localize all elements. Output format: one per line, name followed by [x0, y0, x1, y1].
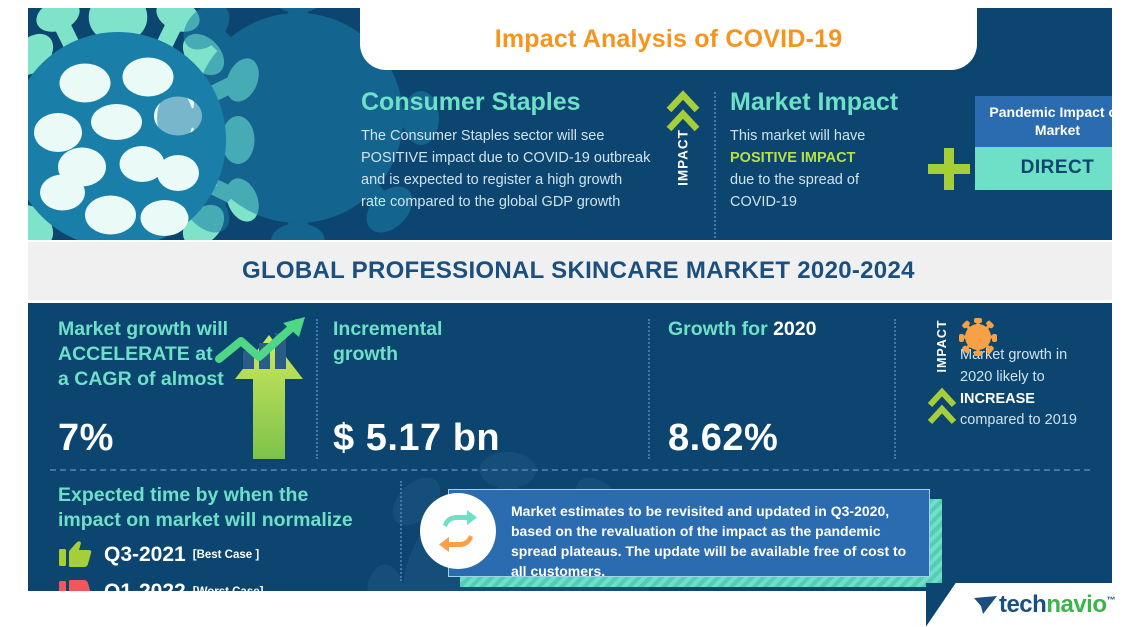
stat-incr-value: $ 5.17 bn — [333, 417, 500, 460]
normalize-best-quarter: Q3-2021 — [104, 543, 186, 567]
refresh-cycle-icon — [433, 506, 483, 556]
note-text: Market estimates to be revisited and upd… — [511, 503, 906, 579]
market-title-band: GLOBAL PROFESSIONAL SKINCARE MARKET 2020… — [28, 242, 1112, 300]
stat-growth-2020: Growth for 2020 8.62% — [668, 317, 898, 342]
stat-cagr-line2: ACCELERATE at — [58, 343, 213, 365]
note-icon-circle — [420, 493, 496, 569]
stat-growth-prefix: Growth for — [668, 318, 773, 340]
stat-incremental-growth: Incremental growth $ 5.17 bn — [333, 317, 633, 367]
infographic-canvas: Impact Analysis of COVID-19 Consumer Sta… — [0, 0, 1140, 627]
market-impact-line3: COVID-19 — [730, 194, 797, 210]
normalize-worst-quarter: Q1-2022 — [104, 580, 186, 591]
page-title-pill: Impact Analysis of COVID-19 — [360, 8, 977, 70]
consumer-staples-body: The Consumer Staples sector will see POS… — [361, 125, 651, 213]
technavio-arrow-icon — [973, 594, 999, 616]
divider-dotted-top — [714, 92, 716, 238]
stat-cagr-value: 7% — [58, 417, 114, 460]
pandemic-impact-value: DIRECT — [975, 147, 1112, 190]
divider-dotted-bottom — [400, 481, 402, 581]
stat-growth-year: 2020 — [773, 318, 816, 340]
normalize-heading-line2: impact on market will normalize — [58, 509, 353, 531]
divider-dotted-2 — [648, 319, 650, 459]
divider-dashed-horizontal — [50, 469, 1090, 471]
stat-incr-line1: Incremental — [333, 318, 442, 340]
thumbs-down-icon — [58, 577, 92, 591]
impact-2020-emphasis: INCREASE — [960, 391, 1035, 407]
stat-cagr-line3: a CAGR of almost — [58, 368, 224, 390]
impact-label-top: IMPACT — [676, 103, 691, 213]
market-impact-line2: due to the spread of — [730, 172, 859, 188]
impact-label-bottom: IMPACT — [935, 303, 949, 392]
stat-incr-line2: growth — [333, 343, 398, 365]
logo-text-tech: tech — [999, 591, 1046, 618]
logo-text-navio: navio — [1046, 591, 1106, 618]
double-chevron-up-icon-2 — [927, 387, 957, 427]
normalize-heading-line1: Expected time by when the — [58, 484, 308, 506]
market-impact-block: Market Impact This market will have POSI… — [730, 88, 955, 213]
bottom-panel: Market growth will ACCELERATE at a CAGR … — [28, 303, 1112, 591]
market-impact-heading: Market Impact — [730, 88, 955, 117]
divider-dotted-1 — [316, 319, 318, 459]
pandemic-impact-heading: Pandemic Impact on Market — [975, 96, 1112, 147]
normalize-row-worst: Q1-2022 [Worst Case] — [58, 577, 388, 591]
consumer-staples-block: Consumer Staples The Consumer Staples se… — [361, 88, 651, 213]
note-box: Market estimates to be revisited and upd… — [448, 489, 930, 577]
stat-growth-value: 8.62% — [668, 417, 778, 460]
normalize-best-case: [Best Case ] — [193, 549, 259, 561]
page-title: Impact Analysis of COVID-19 — [495, 25, 843, 54]
normalize-block: Expected time by when the impact on mark… — [58, 483, 388, 591]
pandemic-impact-box: Pandemic Impact on Market DIRECT — [975, 96, 1112, 190]
market-impact-line1: This market will have — [730, 128, 865, 144]
normalize-worst-case: [Worst Case] — [193, 586, 264, 591]
technavio-logo-banner: technavio™ — [948, 583, 1140, 627]
virus-icon — [958, 317, 998, 357]
divider-dotted-3 — [894, 319, 896, 459]
stat-cagr-line1: Market growth will — [58, 318, 228, 340]
impact-2020-line3: compared to 2019 — [960, 412, 1077, 428]
market-impact-highlight: POSITIVE IMPACT — [730, 150, 855, 166]
market-title: GLOBAL PROFESSIONAL SKINCARE MARKET 2020… — [242, 257, 915, 285]
growth-chart-icon — [213, 315, 313, 375]
impact-indicator-top: IMPACT — [660, 90, 706, 240]
top-panel: Impact Analysis of COVID-19 Consumer Sta… — [28, 8, 1112, 240]
thumbs-up-icon — [58, 540, 92, 570]
banner-corner-cut — [926, 583, 956, 627]
impact-2020-block: IMPACT Market growth in 2020 likely to I… — [918, 317, 1112, 432]
consumer-staples-heading: Consumer Staples — [361, 88, 651, 117]
logo-trademark: ™ — [1107, 595, 1116, 605]
plus-icon — [928, 148, 970, 190]
impact-2020-line2: 2020 likely to — [960, 369, 1045, 385]
normalize-row-best: Q3-2021 [Best Case ] — [58, 540, 388, 570]
